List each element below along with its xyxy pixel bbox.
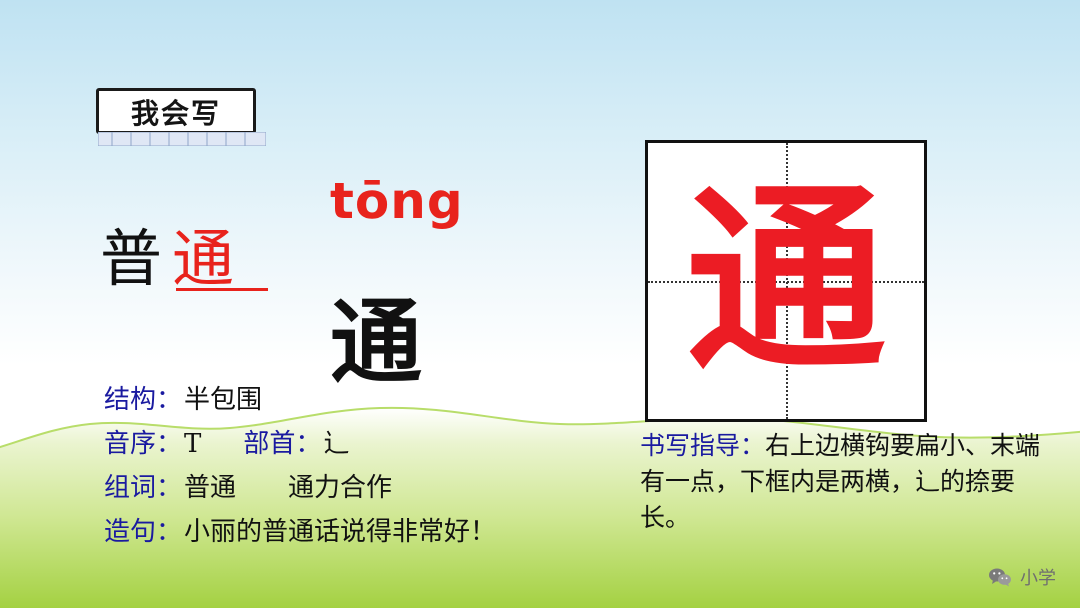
pinyin-text: tōng [330,172,464,230]
grid-character: 通 [648,143,924,419]
info-value-word-2: 通力合作 [288,473,392,503]
info-label-structure: 结构： [104,385,182,415]
wechat-icon [988,567,1012,587]
slide-canvas: 我会写 普通 tōng 通 结构：半包围 音序：T部首：辶 [0,0,1080,608]
info-row-words: 组词：普通通力合作 [104,466,624,510]
character-info-list: 结构：半包围 音序：T部首：辶 组词：普通通力合作 造句：小丽的普通话说得非常好… [104,378,624,554]
info-row-structure: 结构：半包围 [104,378,624,422]
info-value-radical: 辶 [323,429,349,459]
word-char-1: 普 [100,222,172,295]
badge-label: 我会写 [96,92,256,132]
writing-guidance: 书写指导：右上边横钩要扁小、末端有一点，下框内是两横，辶的捺要长。 [640,428,1060,536]
info-label-words: 组词： [104,473,182,503]
word-display: 普通 [100,208,244,298]
info-value-structure: 半包围 [184,385,262,415]
info-value-word-1: 普通 [184,473,236,503]
badge-base-lines [98,132,266,146]
word-char-2: 通 [172,222,244,295]
watermark-label: 小学 [1020,564,1056,590]
info-label-sentence: 造句： [104,517,182,547]
guidance-label: 书写指导： [640,431,765,460]
info-label-initial: 音序： [104,429,182,459]
info-value-sentence: 小丽的普通话说得非常好！ [184,517,496,547]
info-row-initial: 音序：T部首：辶 [104,422,624,466]
info-label-radical: 部首： [243,429,321,459]
watermark: 小学 [988,564,1056,590]
word-underline [176,288,268,291]
info-row-sentence: 造句：小丽的普通话说得非常好！ [104,510,624,554]
section-title-badge: 我会写 [96,88,256,140]
character-grid-box: 通 [645,140,927,422]
info-value-initial: T [184,429,201,459]
